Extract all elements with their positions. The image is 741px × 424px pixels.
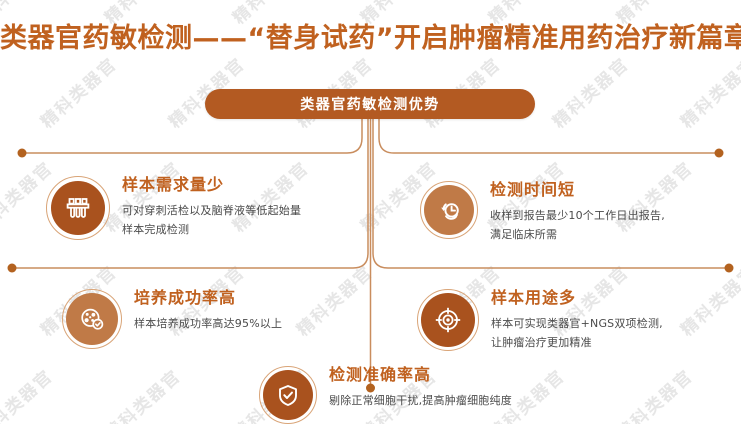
icon-container [62, 289, 122, 349]
feature-item-sample-demand[interactable]: 样本需求量少 可对穿刺活检以及脑脊液等低起始量 样本完成检测 [46, 176, 301, 240]
infographic-root: 精科类器官精科类器官精科类器官精科类器官精科类器官精科类器官精科类器官精科类器官… [0, 0, 741, 424]
feature-text: 检测时间短 收样到报告最少10个工作日出报告, 满足临床所需 [478, 181, 665, 244]
desc-line: 剔除正常细胞干扰,提高肿瘤细胞纯度 [329, 391, 512, 410]
endpoint-dot [18, 149, 27, 158]
feature-item-multi-purpose-sample[interactable]: 样本用途多 样本可实现类器官+NGS双项检测, 让肿瘤治疗更加精准 [417, 289, 663, 352]
test-tube-rack-icon [51, 181, 105, 235]
feature-text: 培养成功率高 样本培养成功率高达95%以上 [122, 289, 282, 333]
feature-description: 可对穿刺活检以及脑脊液等低起始量 样本完成检测 [122, 201, 301, 240]
feature-text: 检测准确率高 剔除正常细胞干扰,提高肿瘤细胞纯度 [317, 366, 512, 410]
feature-heading: 培养成功率高 [134, 289, 282, 307]
feature-description: 样本培养成功率高达95%以上 [134, 314, 282, 333]
desc-line: 满足临床所需 [490, 225, 665, 244]
cell-culture-check-icon [66, 293, 118, 345]
icon-container [259, 366, 317, 424]
clock-refresh-icon [424, 185, 474, 235]
desc-line: 样本培养成功率高达95%以上 [134, 314, 282, 333]
banner-label: 类器官药敏检测优势 [300, 94, 440, 114]
endpoint-dot [715, 149, 724, 158]
feature-item-short-turnaround[interactable]: 检测时间短 收样到报告最少10个工作日出报告, 满足临床所需 [420, 181, 665, 244]
shield-check-icon [263, 370, 313, 420]
feature-heading: 检测时间短 [490, 181, 665, 199]
desc-line: 让肿瘤治疗更加精准 [491, 333, 663, 352]
endpoint-dot [8, 264, 17, 273]
endpoint-dot [725, 264, 734, 273]
feature-text: 样本用途多 样本可实现类器官+NGS双项检测, 让肿瘤治疗更加精准 [479, 289, 663, 352]
desc-line: 可对穿刺活检以及脑脊液等低起始量 [122, 201, 301, 220]
icon-container [420, 181, 478, 239]
crosshair-target-icon [421, 293, 475, 347]
desc-line: 样本可实现类器官+NGS双项检测, [491, 314, 663, 333]
icon-container [46, 176, 110, 240]
feature-text: 样本需求量少 可对穿刺活检以及脑脊液等低起始量 样本完成检测 [110, 176, 301, 239]
feature-item-high-accuracy[interactable]: 检测准确率高 剔除正常细胞干扰,提高肿瘤细胞纯度 [259, 366, 512, 424]
feature-description: 剔除正常细胞干扰,提高肿瘤细胞纯度 [329, 391, 512, 410]
feature-heading: 样本用途多 [491, 289, 663, 307]
desc-line: 收样到报告最少10个工作日出报告, [490, 206, 665, 225]
banner-advantages: 类器官药敏检测优势 [205, 89, 535, 119]
feature-heading: 检测准确率高 [329, 366, 512, 384]
desc-line: 样本完成检测 [122, 220, 301, 239]
feature-item-culture-success-rate[interactable]: 培养成功率高 样本培养成功率高达95%以上 [62, 289, 282, 349]
feature-description: 样本可实现类器官+NGS双项检测, 让肿瘤治疗更加精准 [491, 314, 663, 353]
feature-heading: 样本需求量少 [122, 176, 301, 194]
feature-description: 收样到报告最少10个工作日出报告, 满足临床所需 [490, 206, 665, 245]
icon-container [417, 289, 479, 351]
page-title: 类器官药敏检测——“替身试药”开启肿瘤精准用药治疗新篇章 [0, 16, 741, 55]
